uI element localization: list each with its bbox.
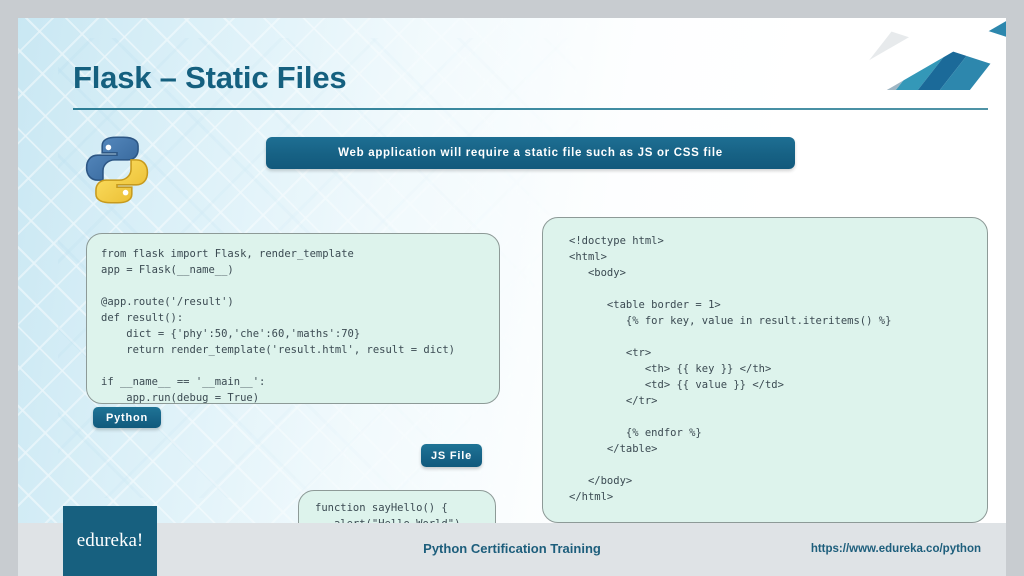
slide-canvas: Flask – Static Files Web application wil… bbox=[18, 18, 1006, 576]
python-code-block: from flask import Flask, render_template… bbox=[86, 233, 500, 404]
edureka-logo: edureka! bbox=[63, 506, 157, 576]
html-code-block: <!doctype html> <html> <body> <table bor… bbox=[542, 217, 988, 523]
badge-js-file: JS File bbox=[421, 444, 482, 467]
callout-banner: Web application will require a static fi… bbox=[266, 137, 795, 169]
title-divider bbox=[73, 108, 988, 110]
page-title: Flask – Static Files bbox=[73, 60, 346, 96]
badge-python: Python bbox=[93, 407, 161, 428]
footer-bar: Python Certification Training https://ww… bbox=[18, 523, 1006, 576]
python-logo-icon bbox=[78, 131, 156, 209]
corner-ribbon-decoration bbox=[866, 18, 1006, 90]
footer-url[interactable]: https://www.edureka.co/python bbox=[811, 543, 981, 555]
